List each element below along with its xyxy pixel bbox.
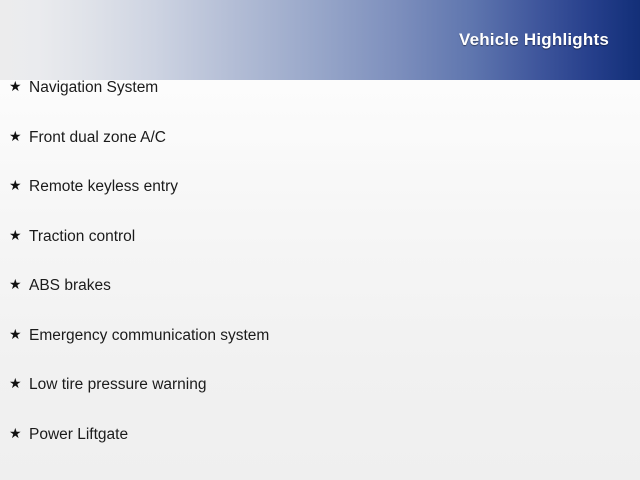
feature-label: Remote keyless entry bbox=[29, 179, 178, 195]
star-icon: ★ bbox=[9, 129, 29, 143]
list-item: ★ Low tire pressure warning bbox=[0, 377, 640, 427]
list-item: ★ Power Liftgate bbox=[0, 427, 640, 477]
feature-label: Navigation System bbox=[29, 80, 158, 96]
list-item: ★ Front dual zone A/C bbox=[0, 130, 640, 180]
star-icon: ★ bbox=[9, 178, 29, 192]
star-icon: ★ bbox=[9, 228, 29, 242]
star-icon: ★ bbox=[9, 277, 29, 291]
feature-label: Emergency communication system bbox=[29, 328, 269, 344]
star-icon: ★ bbox=[9, 79, 29, 93]
feature-label: Traction control bbox=[29, 229, 135, 245]
feature-list: ★ Navigation System ★ Front dual zone A/… bbox=[0, 80, 640, 476]
list-item: ★ Emergency communication system bbox=[0, 328, 640, 378]
star-icon: ★ bbox=[9, 426, 29, 440]
feature-label: Front dual zone A/C bbox=[29, 130, 166, 146]
page-title: Vehicle Highlights bbox=[459, 30, 640, 50]
list-item: ★ ABS brakes bbox=[0, 278, 640, 328]
star-icon: ★ bbox=[9, 327, 29, 341]
list-item: ★ Remote keyless entry bbox=[0, 179, 640, 229]
vehicle-highlights-slide: Vehicle Highlights ★ Navigation System ★… bbox=[0, 0, 640, 480]
list-item: ★ Traction control bbox=[0, 229, 640, 279]
feature-label: ABS brakes bbox=[29, 278, 111, 294]
star-icon: ★ bbox=[9, 376, 29, 390]
list-item: ★ Navigation System bbox=[0, 80, 640, 130]
header-banner: Vehicle Highlights bbox=[0, 0, 640, 80]
feature-label: Power Liftgate bbox=[29, 427, 128, 443]
feature-label: Low tire pressure warning bbox=[29, 377, 206, 393]
